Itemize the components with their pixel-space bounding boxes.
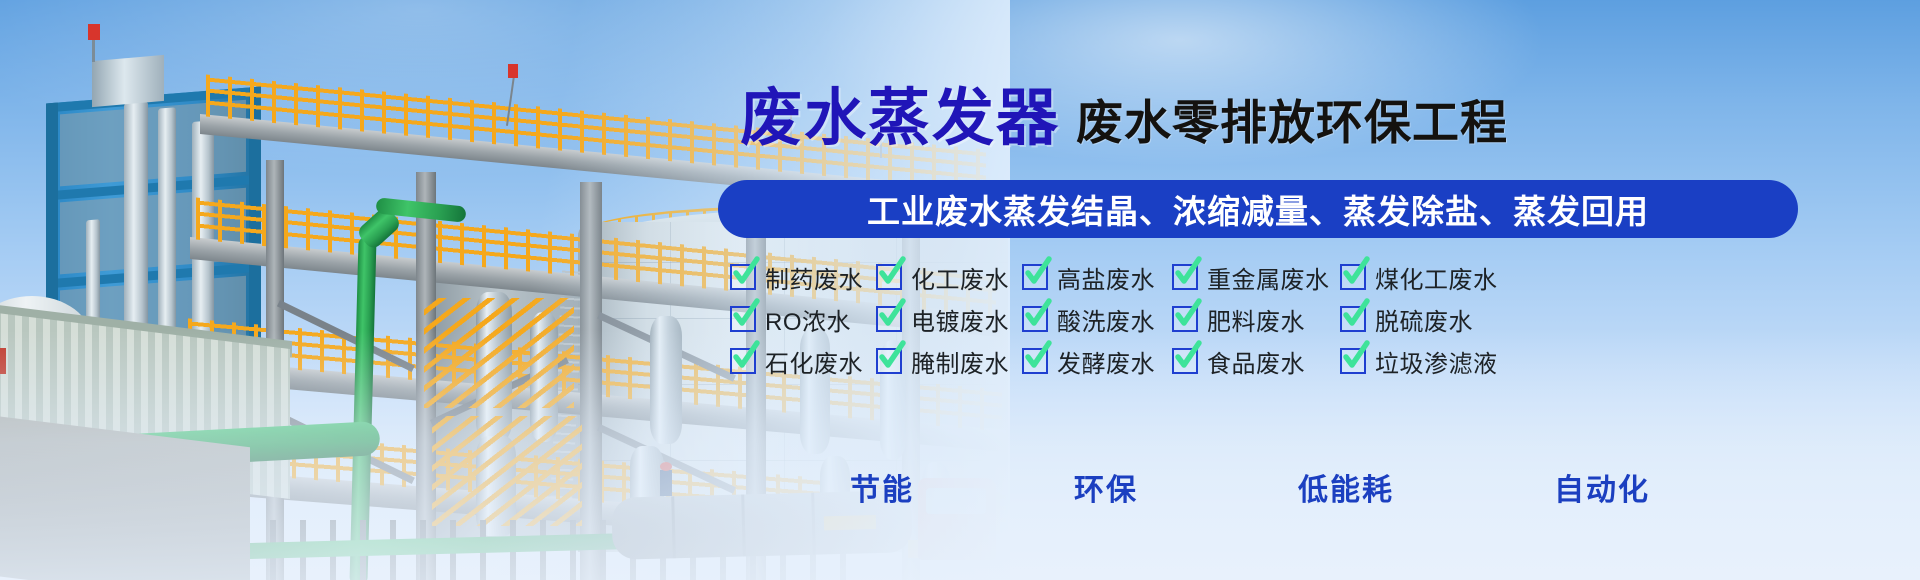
checklist-item[interactable]: 高盐废水 <box>1022 260 1172 295</box>
checklist-label: 食品废水 <box>1207 344 1305 379</box>
check-icon <box>876 264 902 290</box>
check-icon <box>876 306 902 332</box>
checklist-row: 石化废水 腌制废水 发酵废水 食品废水 垃圾渗滤液 <box>730 340 1890 382</box>
check-icon <box>1340 306 1366 332</box>
headline-sub: 废水零排放环保工程 <box>1076 99 1508 146</box>
keyword-item: 环保 <box>1074 465 1138 509</box>
wastewater-type-checklist: 制药废水 化工废水 高盐废水 重金属废水 煤化工废水 <box>730 256 1890 382</box>
subtitle-pill-text: 工业废水蒸发结晶、浓缩减量、蒸发除盐、蒸发回用 <box>867 185 1649 233</box>
checklist-row: 制药废水 化工废水 高盐废水 重金属废水 煤化工废水 <box>730 256 1890 298</box>
check-icon <box>1022 264 1048 290</box>
checklist-item[interactable]: 制药废水 <box>730 260 876 295</box>
checklist-row: RO浓水 电镀废水 酸洗废水 肥料废水 脱硫废水 <box>730 298 1890 340</box>
checklist-label: 脱硫废水 <box>1375 302 1473 337</box>
keyword-item: 低能耗 <box>1298 465 1394 509</box>
checklist-item[interactable]: 电镀废水 <box>876 302 1022 337</box>
checklist-label: 垃圾渗滤液 <box>1375 344 1498 379</box>
check-icon <box>1172 306 1198 332</box>
subtitle-pill: 工业废水蒸发结晶、浓缩减量、蒸发除盐、蒸发回用 <box>718 180 1798 238</box>
hero-banner: 废水蒸发器 废水零排放环保工程 工业废水蒸发结晶、浓缩减量、蒸发除盐、蒸发回用 … <box>0 0 1920 580</box>
checklist-item[interactable]: 煤化工废水 <box>1340 260 1500 295</box>
headline-main: 废水蒸发器 <box>740 88 1060 150</box>
checklist-label: 化工废水 <box>911 260 1009 295</box>
check-icon <box>1340 348 1366 374</box>
checklist-label: 发酵废水 <box>1057 344 1155 379</box>
check-icon <box>730 264 756 290</box>
checklist-item[interactable]: 肥料废水 <box>1172 302 1340 337</box>
checklist-label: 石化废水 <box>765 344 863 379</box>
tower-mast <box>92 28 95 62</box>
check-icon <box>876 348 902 374</box>
checklist-item[interactable]: 石化废水 <box>730 344 876 379</box>
check-icon <box>730 348 756 374</box>
checklist-label: 重金属废水 <box>1207 260 1330 295</box>
check-icon <box>1340 264 1366 290</box>
checklist-item[interactable]: RO浓水 <box>730 302 876 337</box>
checklist-item[interactable]: 发酵废水 <box>1022 344 1172 379</box>
checklist-item[interactable]: 食品废水 <box>1172 344 1340 379</box>
checklist-item[interactable]: 脱硫废水 <box>1340 302 1500 337</box>
red-flag <box>88 24 100 40</box>
headline: 废水蒸发器 废水零排放环保工程 <box>740 88 1900 150</box>
text-content: 废水蒸发器 废水零排放环保工程 工业废水蒸发结晶、浓缩减量、蒸发除盐、蒸发回用 … <box>700 0 1920 580</box>
checklist-label: 煤化工废水 <box>1375 260 1498 295</box>
keyword-item: 自动化 <box>1554 465 1650 509</box>
benefit-keywords: 节能 环保 低能耗 自动化 <box>850 465 1650 509</box>
checklist-label: RO浓水 <box>765 302 851 337</box>
checklist-item[interactable]: 垃圾渗滤液 <box>1340 344 1500 379</box>
keyword-item: 节能 <box>850 465 914 509</box>
checklist-label: 电镀废水 <box>911 302 1009 337</box>
check-icon <box>1022 348 1048 374</box>
tower-head-unit <box>92 55 164 107</box>
checklist-item[interactable]: 腌制废水 <box>876 344 1022 379</box>
checklist-item[interactable]: 化工废水 <box>876 260 1022 295</box>
checklist-item[interactable]: 酸洗废水 <box>1022 302 1172 337</box>
check-icon <box>1172 348 1198 374</box>
checklist-item[interactable]: 重金属废水 <box>1172 260 1340 295</box>
check-icon <box>1172 264 1198 290</box>
checklist-label: 肥料废水 <box>1207 302 1305 337</box>
check-icon <box>730 306 756 332</box>
checklist-label: 腌制废水 <box>911 344 1009 379</box>
checklist-label: 酸洗废水 <box>1057 302 1155 337</box>
checklist-label: 高盐废水 <box>1057 260 1155 295</box>
check-icon <box>1022 306 1048 332</box>
checklist-label: 制药废水 <box>765 260 863 295</box>
